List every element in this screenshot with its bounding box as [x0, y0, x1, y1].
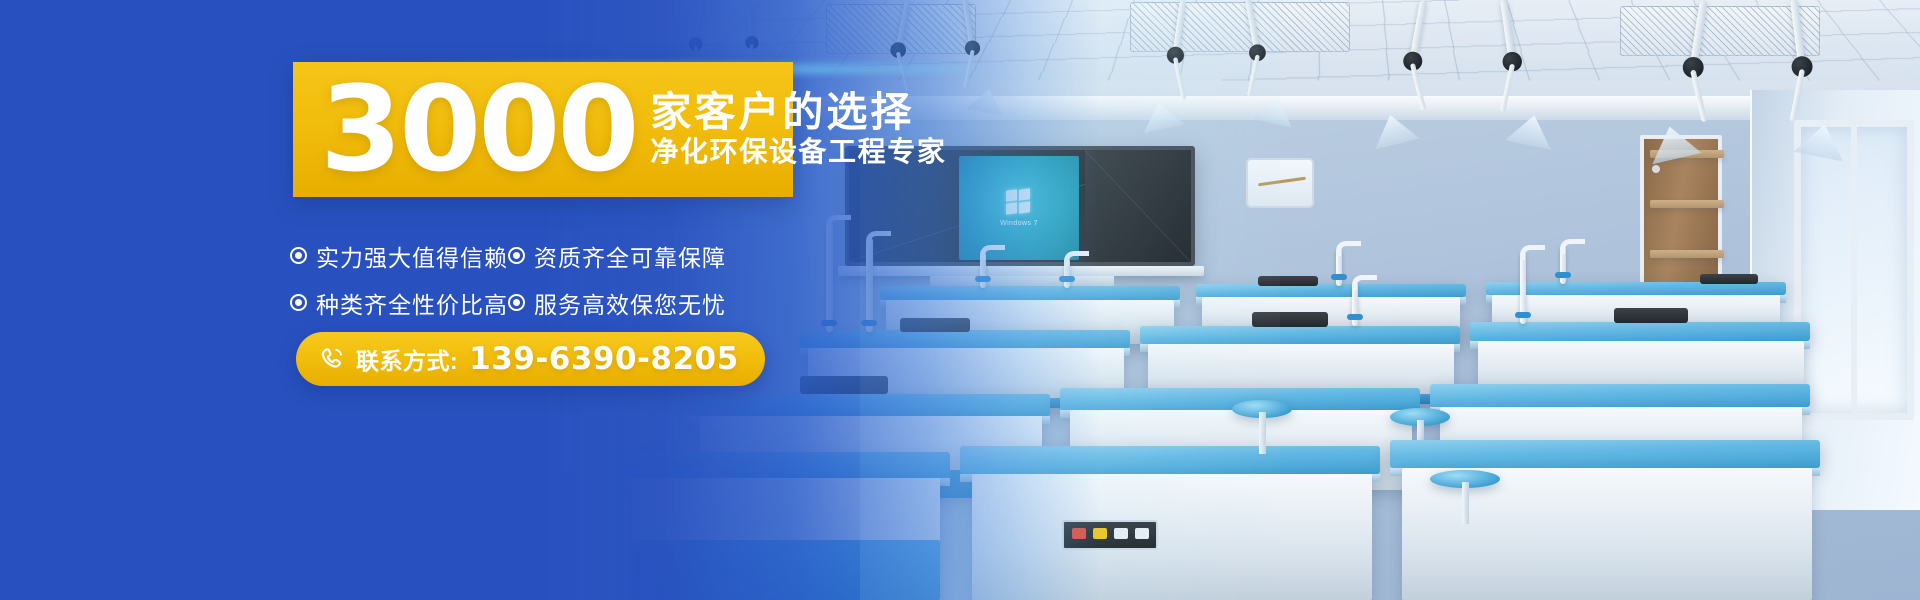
- feature-item-4: 服务高效保您无忧: [508, 286, 726, 320]
- feature-item-2: 资质齐全可靠保障: [508, 239, 726, 273]
- feature-label: 资质齐全可靠保障: [534, 239, 726, 273]
- feature-row: 种类齐全性价比高 服务高效保您无忧: [290, 279, 760, 326]
- headline-line-2: 净化环保设备工程专家: [650, 137, 946, 168]
- feature-label: 实力强大值得信赖: [316, 239, 508, 273]
- phone-icon: [318, 346, 345, 373]
- contact-label: 联系方式:: [356, 342, 458, 376]
- circle-dot-icon: [290, 247, 307, 264]
- headline-block: 3000 家客户的选择 净化环保设备工程专家: [293, 62, 793, 197]
- banner-content: 3000 家客户的选择 净化环保设备工程专家 实力强大值得信赖 资质齐全可靠保障: [0, 0, 1920, 600]
- feature-list: 实力强大值得信赖 资质齐全可靠保障 种类齐全性价比高 服务高效保您无忧: [290, 232, 760, 326]
- promo-banner: Windows 7: [0, 0, 1920, 600]
- feature-label: 种类齐全性价比高: [316, 286, 508, 320]
- customer-count: 3000: [320, 79, 636, 180]
- feature-label: 服务高效保您无忧: [534, 286, 726, 320]
- circle-dot-icon: [290, 294, 307, 311]
- feature-row: 实力强大值得信赖 资质齐全可靠保障: [290, 232, 760, 279]
- headline-line-1: 家客户的选择: [650, 91, 946, 134]
- contact-cta-button[interactable]: 联系方式: 139-6390-8205: [296, 332, 765, 386]
- headline-text-column: 家客户的选择 净化环保设备工程专家: [650, 91, 946, 168]
- feature-item-3: 种类齐全性价比高: [290, 286, 508, 320]
- circle-dot-icon: [508, 294, 525, 311]
- feature-item-1: 实力强大值得信赖: [290, 239, 508, 273]
- phone-number: 139-6390-8205: [469, 341, 739, 377]
- circle-dot-icon: [508, 247, 525, 264]
